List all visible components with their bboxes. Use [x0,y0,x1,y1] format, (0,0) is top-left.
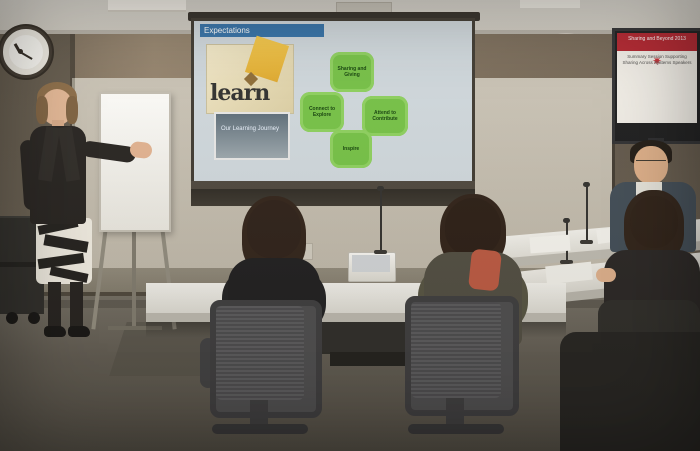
flipchart-leg-center [132,226,136,326]
presenter-hair-right [66,96,78,124]
chair-1-mesh [216,306,304,400]
attendee-4-head [630,196,678,248]
foreground-chair [560,332,700,451]
microphone-base-1 [374,250,387,254]
microphone-head-1 [377,186,384,191]
microphone-stem-2 [586,186,588,242]
presenter-leg-left [48,282,61,330]
wall-display-body-text: Summary Session Supporting Sharing Acros… [619,54,695,66]
flipchart-board [99,92,171,232]
presenter-hand [129,141,153,159]
table-base [330,352,416,366]
slide-gear-2: Connect to Explore [300,92,344,132]
slide-gear-1-label: Sharing and Giving [330,66,374,78]
papers-1 [529,235,570,254]
slide-learn-word: learn [210,80,269,106]
slide-gear-4: Inspire [330,130,372,168]
cart-wheel-right [28,312,40,324]
microphone-stem-1 [380,190,382,252]
attendee-2-scarf [468,249,502,292]
ceiling-light-panel [108,0,186,12]
microphone-base-2 [580,240,593,244]
projection-screen-shadow [191,189,475,207]
chair-2-mesh [411,302,501,398]
presenter-shoe-right [68,326,90,337]
microphone-head-2 [583,182,590,187]
desktop-device-screen [352,255,390,272]
ceiling-light-panel-2 [520,0,580,8]
cart-wheel-left [6,312,18,324]
attendee-2-head [445,198,501,256]
slide-title: Expectations [200,24,324,37]
chair-2-base [408,424,504,434]
slide-gear-1: Sharing and Giving [330,52,374,92]
chair-1-base [212,424,308,434]
wall-display-banner-text: Sharing and Beyond 2013 [619,36,695,42]
presenter-leg-right [70,282,83,330]
meeting-room-photo: Expectations learn Our Learning Journey … [0,0,700,451]
microphone-head-3 [563,218,570,223]
slide-gear-4-label: Inspire [330,146,372,152]
glasses-icon [636,160,666,166]
clock-face [9,35,43,69]
presenter-hair-left [36,96,48,124]
attendee-1-head [247,200,301,258]
slide-gear-3-label: Attend to Contribute [362,110,408,122]
slide-photo [214,112,290,160]
slide-gear-3: Attend to Contribute [362,96,408,136]
slide-gear-2-label: Connect to Explore [300,106,344,118]
projection-screen-bottom-bar [191,181,475,189]
presenter-shoe-left [44,326,66,337]
wall-clock [0,26,52,78]
attendee-4-hand [596,268,616,282]
clock-center-pin [18,49,23,54]
slide-photo-caption: Our Learning Journey [218,126,282,132]
